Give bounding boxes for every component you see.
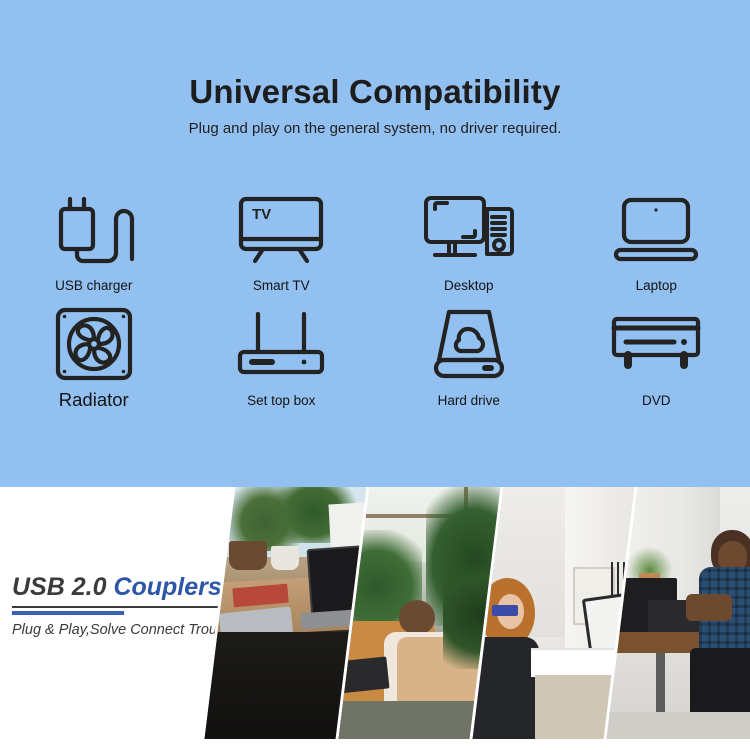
brand-banner: USB 2.0 Couplers Plug & Play,Solve Conne… [0,487,750,750]
hard-drive-cloud-icon [429,305,509,383]
device-label: Radiator [59,389,129,411]
device-label: Hard drive [438,393,500,408]
brand-title: USB 2.0 Couplers [12,575,227,600]
brand-block: USB 2.0 Couplers Plug & Play,Solve Conne… [12,575,227,638]
device-label: Smart TV [253,278,310,293]
device-label: USB charger [55,278,132,293]
device-label: Desktop [444,278,494,293]
device-item-dvd: DVD [563,305,750,411]
product-infographic: Universal Compatibility Plug and play on… [0,0,750,750]
svg-text:TV: TV [252,206,271,223]
dvd-player-icon [608,305,704,383]
device-icon-row: Radiator Set top box [0,305,750,411]
smart-tv-icon: TV [235,190,327,268]
page-subtitle: Plug and play on the general system, no … [0,120,750,137]
device-label: DVD [642,393,671,408]
device-item-laptop: Laptop [563,190,750,293]
brand-divider-blue [12,611,124,615]
device-icon-row: USB charger TV Smart TV [0,190,750,293]
device-item-usb-charger: USB charger [0,190,188,293]
set-top-box-icon [234,305,328,383]
page-title: Universal Compatibility [0,73,750,111]
device-item-set-top-box: Set top box [188,305,376,411]
device-label: Laptop [636,278,677,293]
device-item-desktop: Desktop [375,190,563,293]
device-item-hard-drive: Hard drive [375,305,563,411]
brand-title-suffix: Couplers [113,573,221,601]
laptop-icon [610,190,702,268]
usb-charger-icon [51,190,137,268]
device-item-radiator: Radiator [0,305,188,411]
brand-tagline: Plug & Play,Solve Connect Trouble [12,622,227,638]
device-icon-grid: USB charger TV Smart TV [0,190,750,411]
device-item-smart-tv: TV Smart TV [188,190,376,293]
device-label: Set top box [247,393,315,408]
brand-divider-dark [12,606,224,608]
brand-title-prefix: USB 2.0 [12,573,106,601]
radiator-fan-icon [53,305,135,383]
desktop-computer-icon [421,190,517,268]
compatibility-section: Universal Compatibility Plug and play on… [0,0,750,487]
